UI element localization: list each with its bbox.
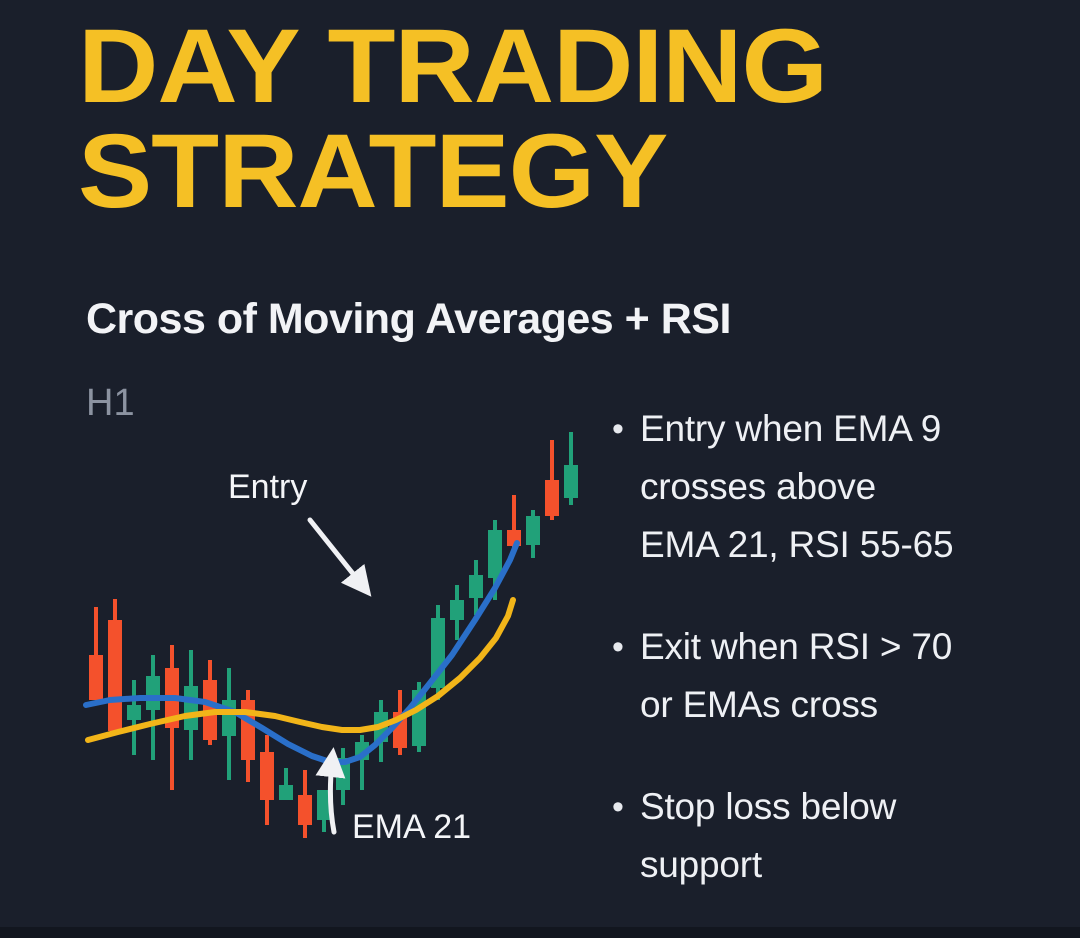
- candle-body: [184, 686, 198, 730]
- candle-body: [260, 752, 274, 800]
- chart-svg: [0, 370, 580, 870]
- candle-body: [564, 465, 578, 498]
- candle-body: [450, 600, 464, 620]
- candle-body: [526, 516, 540, 545]
- candle-body: [89, 655, 103, 700]
- candle-body: [545, 480, 559, 516]
- bullet-marker: •: [612, 618, 640, 734]
- list-item: • Entry when EMA 9 crosses above EMA 21,…: [612, 400, 1072, 574]
- strategy-rules-list: • Entry when EMA 9 crosses above EMA 21,…: [612, 400, 1072, 938]
- bullet-marker: •: [612, 778, 640, 894]
- candle-body: [298, 795, 312, 825]
- candle-body: [279, 785, 293, 800]
- candle-body: [469, 575, 483, 598]
- ema-lines-group: [86, 543, 517, 762]
- title-line-2: STRATEGY: [78, 119, 1053, 224]
- list-item: • Stop loss below support: [612, 778, 1072, 894]
- entry-arrow: [310, 520, 362, 585]
- candlestick-chart: H1 Entry EMA 21: [0, 370, 580, 870]
- title-line-1: DAY TRADING: [78, 14, 1053, 119]
- candle-body: [146, 676, 160, 710]
- candles-group: [89, 428, 580, 838]
- page-title: DAY TRADING STRATEGY: [78, 14, 998, 224]
- candle-body: [127, 705, 141, 720]
- candle-body: [108, 620, 122, 731]
- list-item: • Exit when RSI > 70 or EMAs cross: [612, 618, 1072, 734]
- ema-line-ema9: [86, 543, 517, 762]
- infographic-poster: DAY TRADING STRATEGY Cross of Moving Ave…: [0, 0, 1080, 927]
- bullet-text: Exit when RSI > 70 or EMAs cross: [640, 618, 1072, 734]
- subtitle: Cross of Moving Averages + RSI: [86, 295, 731, 344]
- candle-body: [488, 530, 502, 578]
- bullet-marker: •: [612, 400, 640, 574]
- bullet-text: Entry when EMA 9 crosses above EMA 21, R…: [640, 400, 1072, 574]
- ema21-arrow: [330, 762, 334, 832]
- bullet-text: Stop loss below support: [640, 778, 1072, 894]
